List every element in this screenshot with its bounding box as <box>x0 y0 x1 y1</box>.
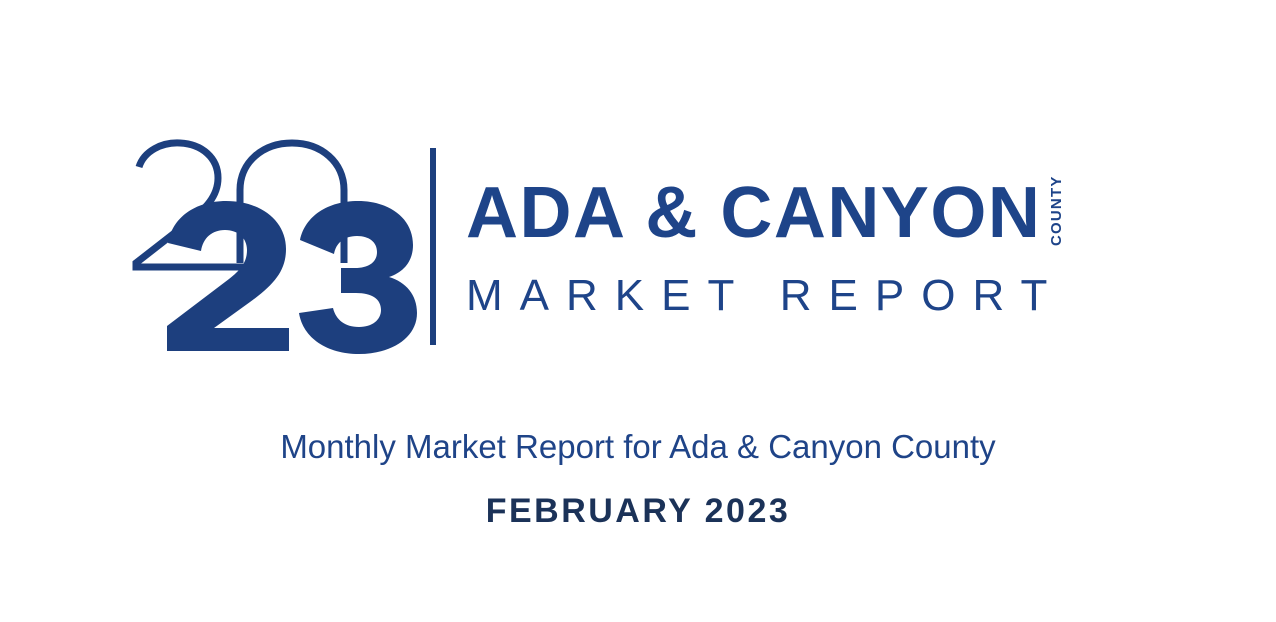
brand-qualifier: COUNTY <box>1048 182 1065 246</box>
year-2023-mark <box>130 138 408 353</box>
logo-divider-rule <box>430 148 436 345</box>
report-subtitle: Monthly Market Report for Ada & Canyon C… <box>0 424 1276 470</box>
report-cover-page: ADA & CANYON COUNTY MARKET REPORT Monthl… <box>0 0 1276 622</box>
brand-subline: MARKET REPORT <box>466 272 1140 320</box>
brand-name: ADA & CANYON <box>466 176 1041 250</box>
report-date: FEBRUARY 2023 <box>0 488 1276 534</box>
year-solid-23 <box>167 201 417 354</box>
brand-wordmark: ADA & CANYON COUNTY MARKET REPORT <box>466 138 1140 353</box>
report-caption-block: Monthly Market Report for Ada & Canyon C… <box>0 424 1276 534</box>
brand-wordmark-primary-line: ADA & CANYON COUNTY <box>466 176 1140 250</box>
brand-logo-lockup: ADA & CANYON COUNTY MARKET REPORT <box>130 138 1140 353</box>
